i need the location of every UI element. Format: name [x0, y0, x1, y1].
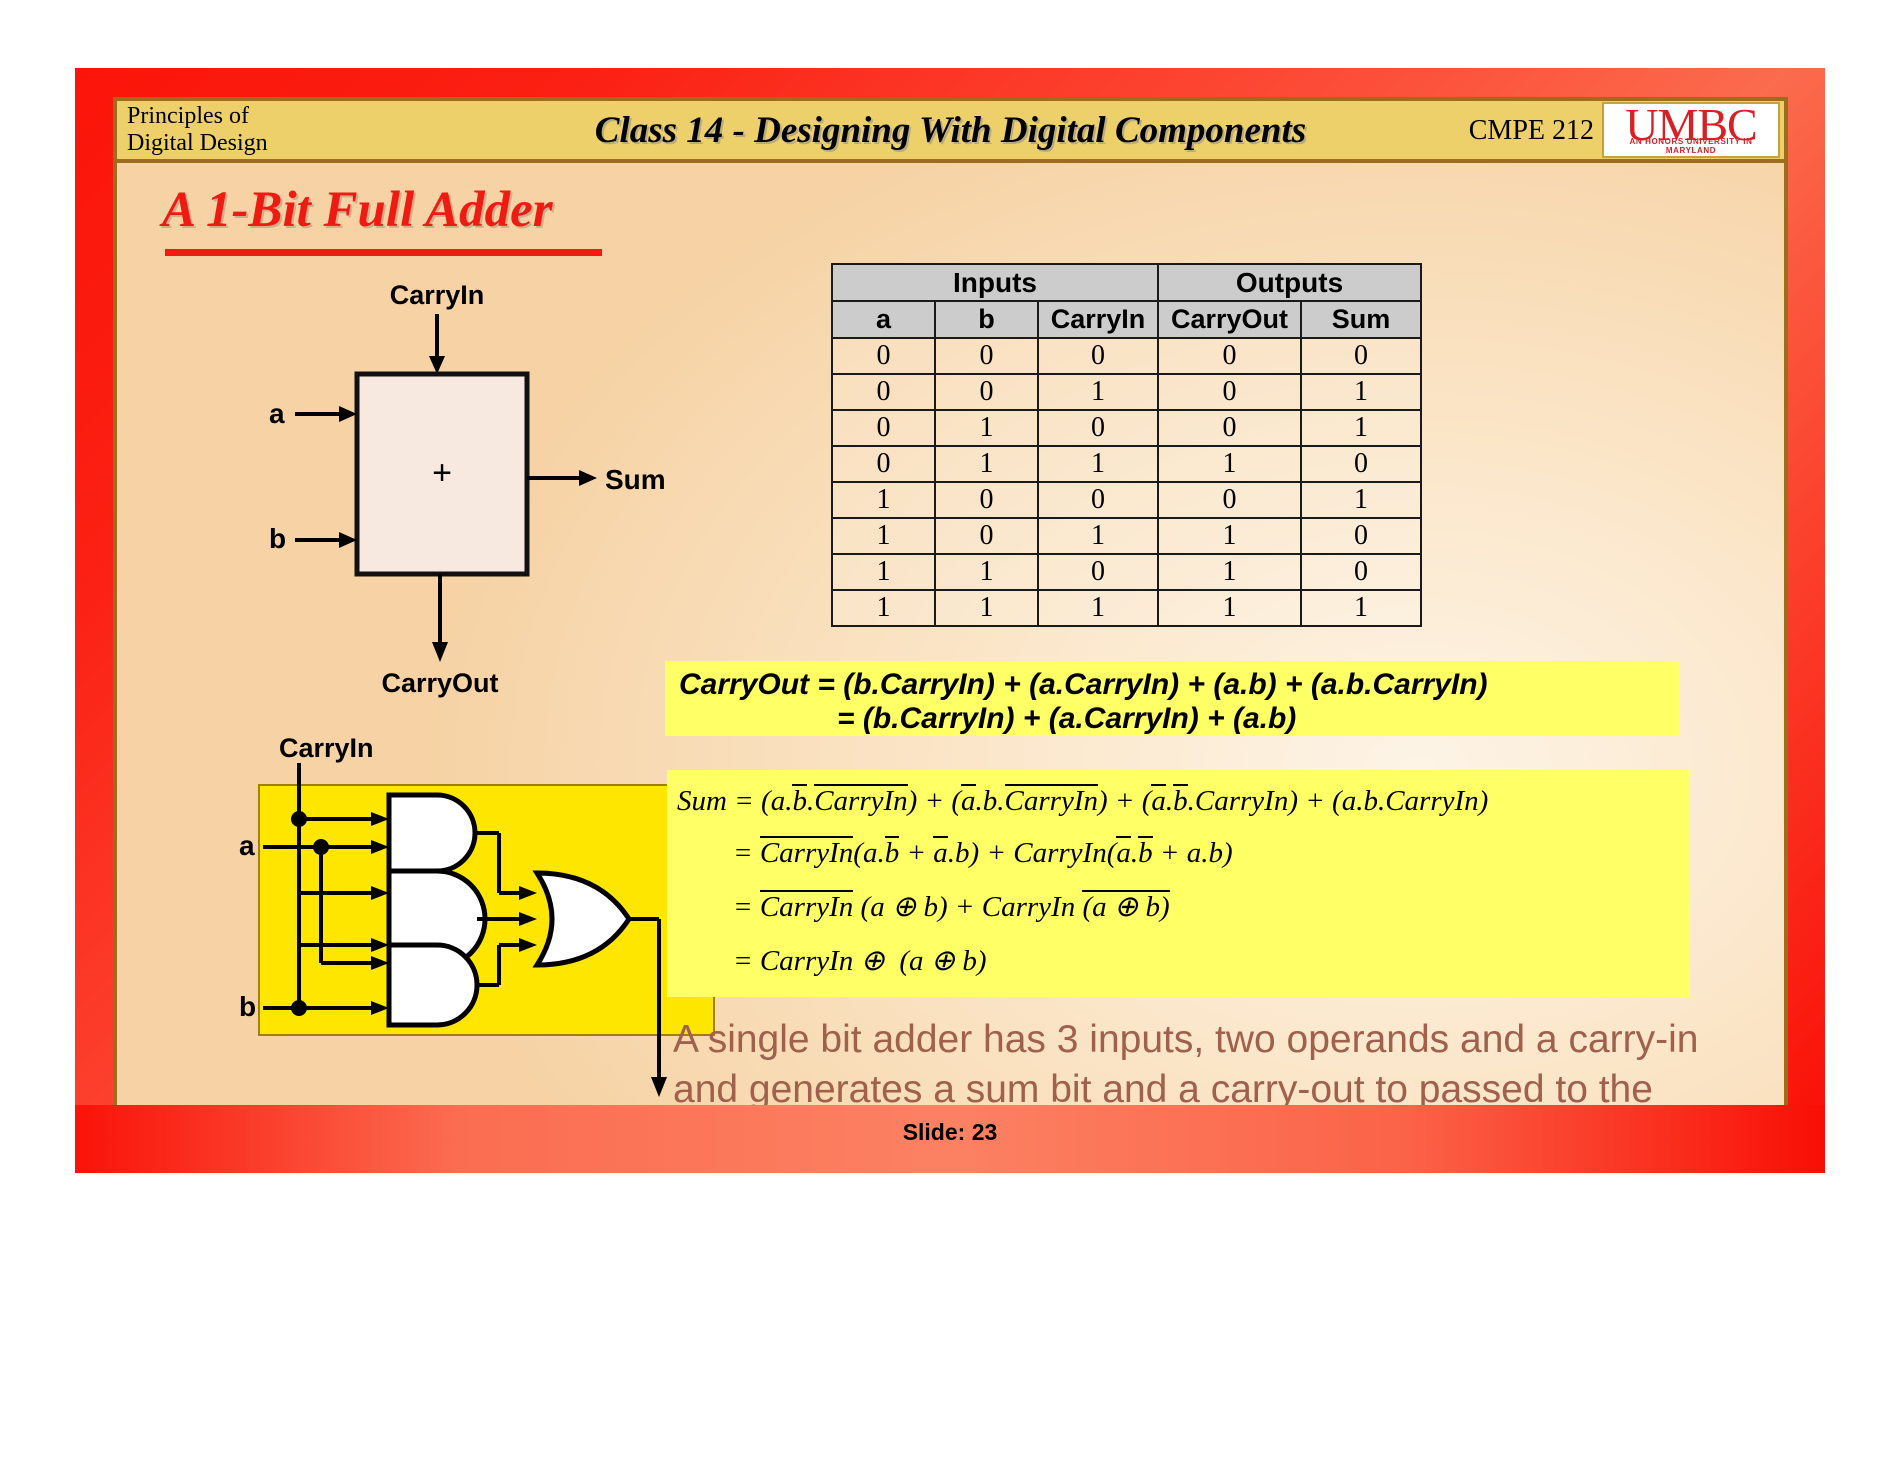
sum-equation-box: Sum = (a.b.CarryIn) + (a.b.CarryIn) + (a…: [667, 770, 1690, 997]
cell-a: 0: [832, 410, 935, 446]
cell-carryin: 1: [1038, 374, 1158, 410]
cell-sum: 0: [1301, 338, 1421, 374]
table-row: 0 1 0 0 1: [832, 410, 1421, 446]
truth-table-group-header-row: Inputs Outputs: [832, 264, 1421, 301]
slide-outer-frame: Principles of Digital Design Class 14 - …: [75, 68, 1825, 1173]
cell-carryout: 1: [1158, 590, 1301, 626]
cell-carryout: 1: [1158, 446, 1301, 482]
cell-b: 0: [935, 374, 1038, 410]
slide-number: Slide: 23: [75, 1119, 1825, 1146]
block-a-label: a: [269, 398, 285, 429]
cell-a: 1: [832, 590, 935, 626]
cell-sum: 0: [1301, 554, 1421, 590]
title-underline: [165, 249, 602, 256]
slide-header-bar: Principles of Digital Design Class 14 - …: [113, 97, 1788, 159]
cell-b: 0: [935, 482, 1038, 518]
block-carryin-label: CarryIn: [390, 280, 485, 310]
sum-equation-line-3: = CarryIn (a ⊕ b) + CarryIn (a ⊕ b): [733, 889, 1170, 924]
cell-carryin: 0: [1038, 482, 1158, 518]
slide-footer-band: Slide: 23: [75, 1105, 1825, 1173]
cell-b: 0: [935, 338, 1038, 374]
cell-b: 1: [935, 446, 1038, 482]
cell-a: 1: [832, 482, 935, 518]
truth-table-group-outputs: Outputs: [1158, 264, 1421, 301]
cell-b: 1: [935, 590, 1038, 626]
cell-carryin: 1: [1038, 518, 1158, 554]
full-adder-block-diagram: CarryIn + a b Sum CarryOut: [247, 278, 807, 718]
block-carryout-label: CarryOut: [381, 668, 498, 698]
truth-table-col-carryin: CarryIn: [1038, 301, 1158, 338]
cell-sum: 1: [1301, 374, 1421, 410]
sum-equation-line-2: = CarryIn(a.b + a.b) + CarryIn(a.b + a.b…: [733, 836, 1233, 870]
gate-carryin-label: CarryIn: [279, 733, 374, 763]
table-row: 1 0 0 0 1: [832, 482, 1421, 518]
cell-carryout: 0: [1158, 482, 1301, 518]
carryout-equation-line-1: CarryOut = (b.CarryIn) + (a.CarryIn) + (…: [679, 668, 1488, 702]
sum-equation-line-4: = CarryIn ⊕ (a ⊕ b): [733, 943, 986, 978]
cell-carryout: 0: [1158, 374, 1301, 410]
truth-table: Inputs Outputs a b CarryIn CarryOut Sum …: [831, 263, 1422, 627]
cell-sum: 0: [1301, 518, 1421, 554]
cell-a: 0: [832, 374, 935, 410]
table-row: 0 0 1 0 1: [832, 374, 1421, 410]
cell-carryout: 0: [1158, 338, 1301, 374]
cell-sum: 1: [1301, 590, 1421, 626]
truth-table-group-inputs: Inputs: [832, 264, 1158, 301]
truth-table-col-sum: Sum: [1301, 301, 1421, 338]
cell-a: 0: [832, 446, 935, 482]
umbc-logo-tagline: AN HONORS UNIVERSITY IN MARYLAND: [1604, 137, 1778, 155]
cell-carryin: 0: [1038, 554, 1158, 590]
block-plus-symbol: +: [432, 454, 452, 492]
table-row: 1 1 1 1 1: [832, 590, 1421, 626]
cell-carryin: 1: [1038, 590, 1158, 626]
slide-content-area: A 1-Bit Full Adder CarryIn + a b Sum: [113, 159, 1788, 1144]
cell-b: 0: [935, 518, 1038, 554]
table-row: 0 0 0 0 0: [832, 338, 1421, 374]
cell-b: 1: [935, 410, 1038, 446]
block-b-label: b: [269, 523, 286, 554]
table-row: 1 0 1 1 0: [832, 518, 1421, 554]
cell-carryout: 1: [1158, 554, 1301, 590]
carryout-equation-line-2: = (b.CarryIn) + (a.CarryIn) + (a.b): [837, 702, 1296, 736]
truth-table-col-carryout: CarryOut: [1158, 301, 1301, 338]
umbc-logo: UMBC AN HONORS UNIVERSITY IN MARYLAND: [1602, 102, 1780, 158]
table-row: 1 1 0 1 0: [832, 554, 1421, 590]
truth-table-col-b: b: [935, 301, 1038, 338]
truth-table-col-a: a: [832, 301, 935, 338]
cell-a: 1: [832, 518, 935, 554]
gate-a-label: a: [239, 830, 255, 861]
course-code: CMPE 212: [1469, 115, 1594, 147]
cell-b: 1: [935, 554, 1038, 590]
sum-equation-line-1: Sum = (a.b.CarryIn) + (a.b.CarryIn) + (a…: [677, 784, 1488, 818]
cell-carryout: 0: [1158, 410, 1301, 446]
cell-sum: 1: [1301, 410, 1421, 446]
cell-a: 0: [832, 338, 935, 374]
cell-carryin: 0: [1038, 410, 1158, 446]
cell-carryin: 0: [1038, 338, 1158, 374]
block-sum-label: Sum: [605, 464, 666, 495]
table-row: 0 1 1 1 0: [832, 446, 1421, 482]
carryout-equation-box: CarryOut = (b.CarryIn) + (a.CarryIn) + (…: [665, 661, 1680, 736]
page-title: A 1-Bit Full Adder: [162, 181, 553, 239]
cell-sum: 1: [1301, 482, 1421, 518]
cell-a: 1: [832, 554, 935, 590]
truth-table-column-header-row: a b CarryIn CarryOut Sum: [832, 301, 1421, 338]
gate-b-label: b: [239, 991, 256, 1022]
cell-carryin: 1: [1038, 446, 1158, 482]
cell-sum: 0: [1301, 446, 1421, 482]
cell-carryout: 1: [1158, 518, 1301, 554]
